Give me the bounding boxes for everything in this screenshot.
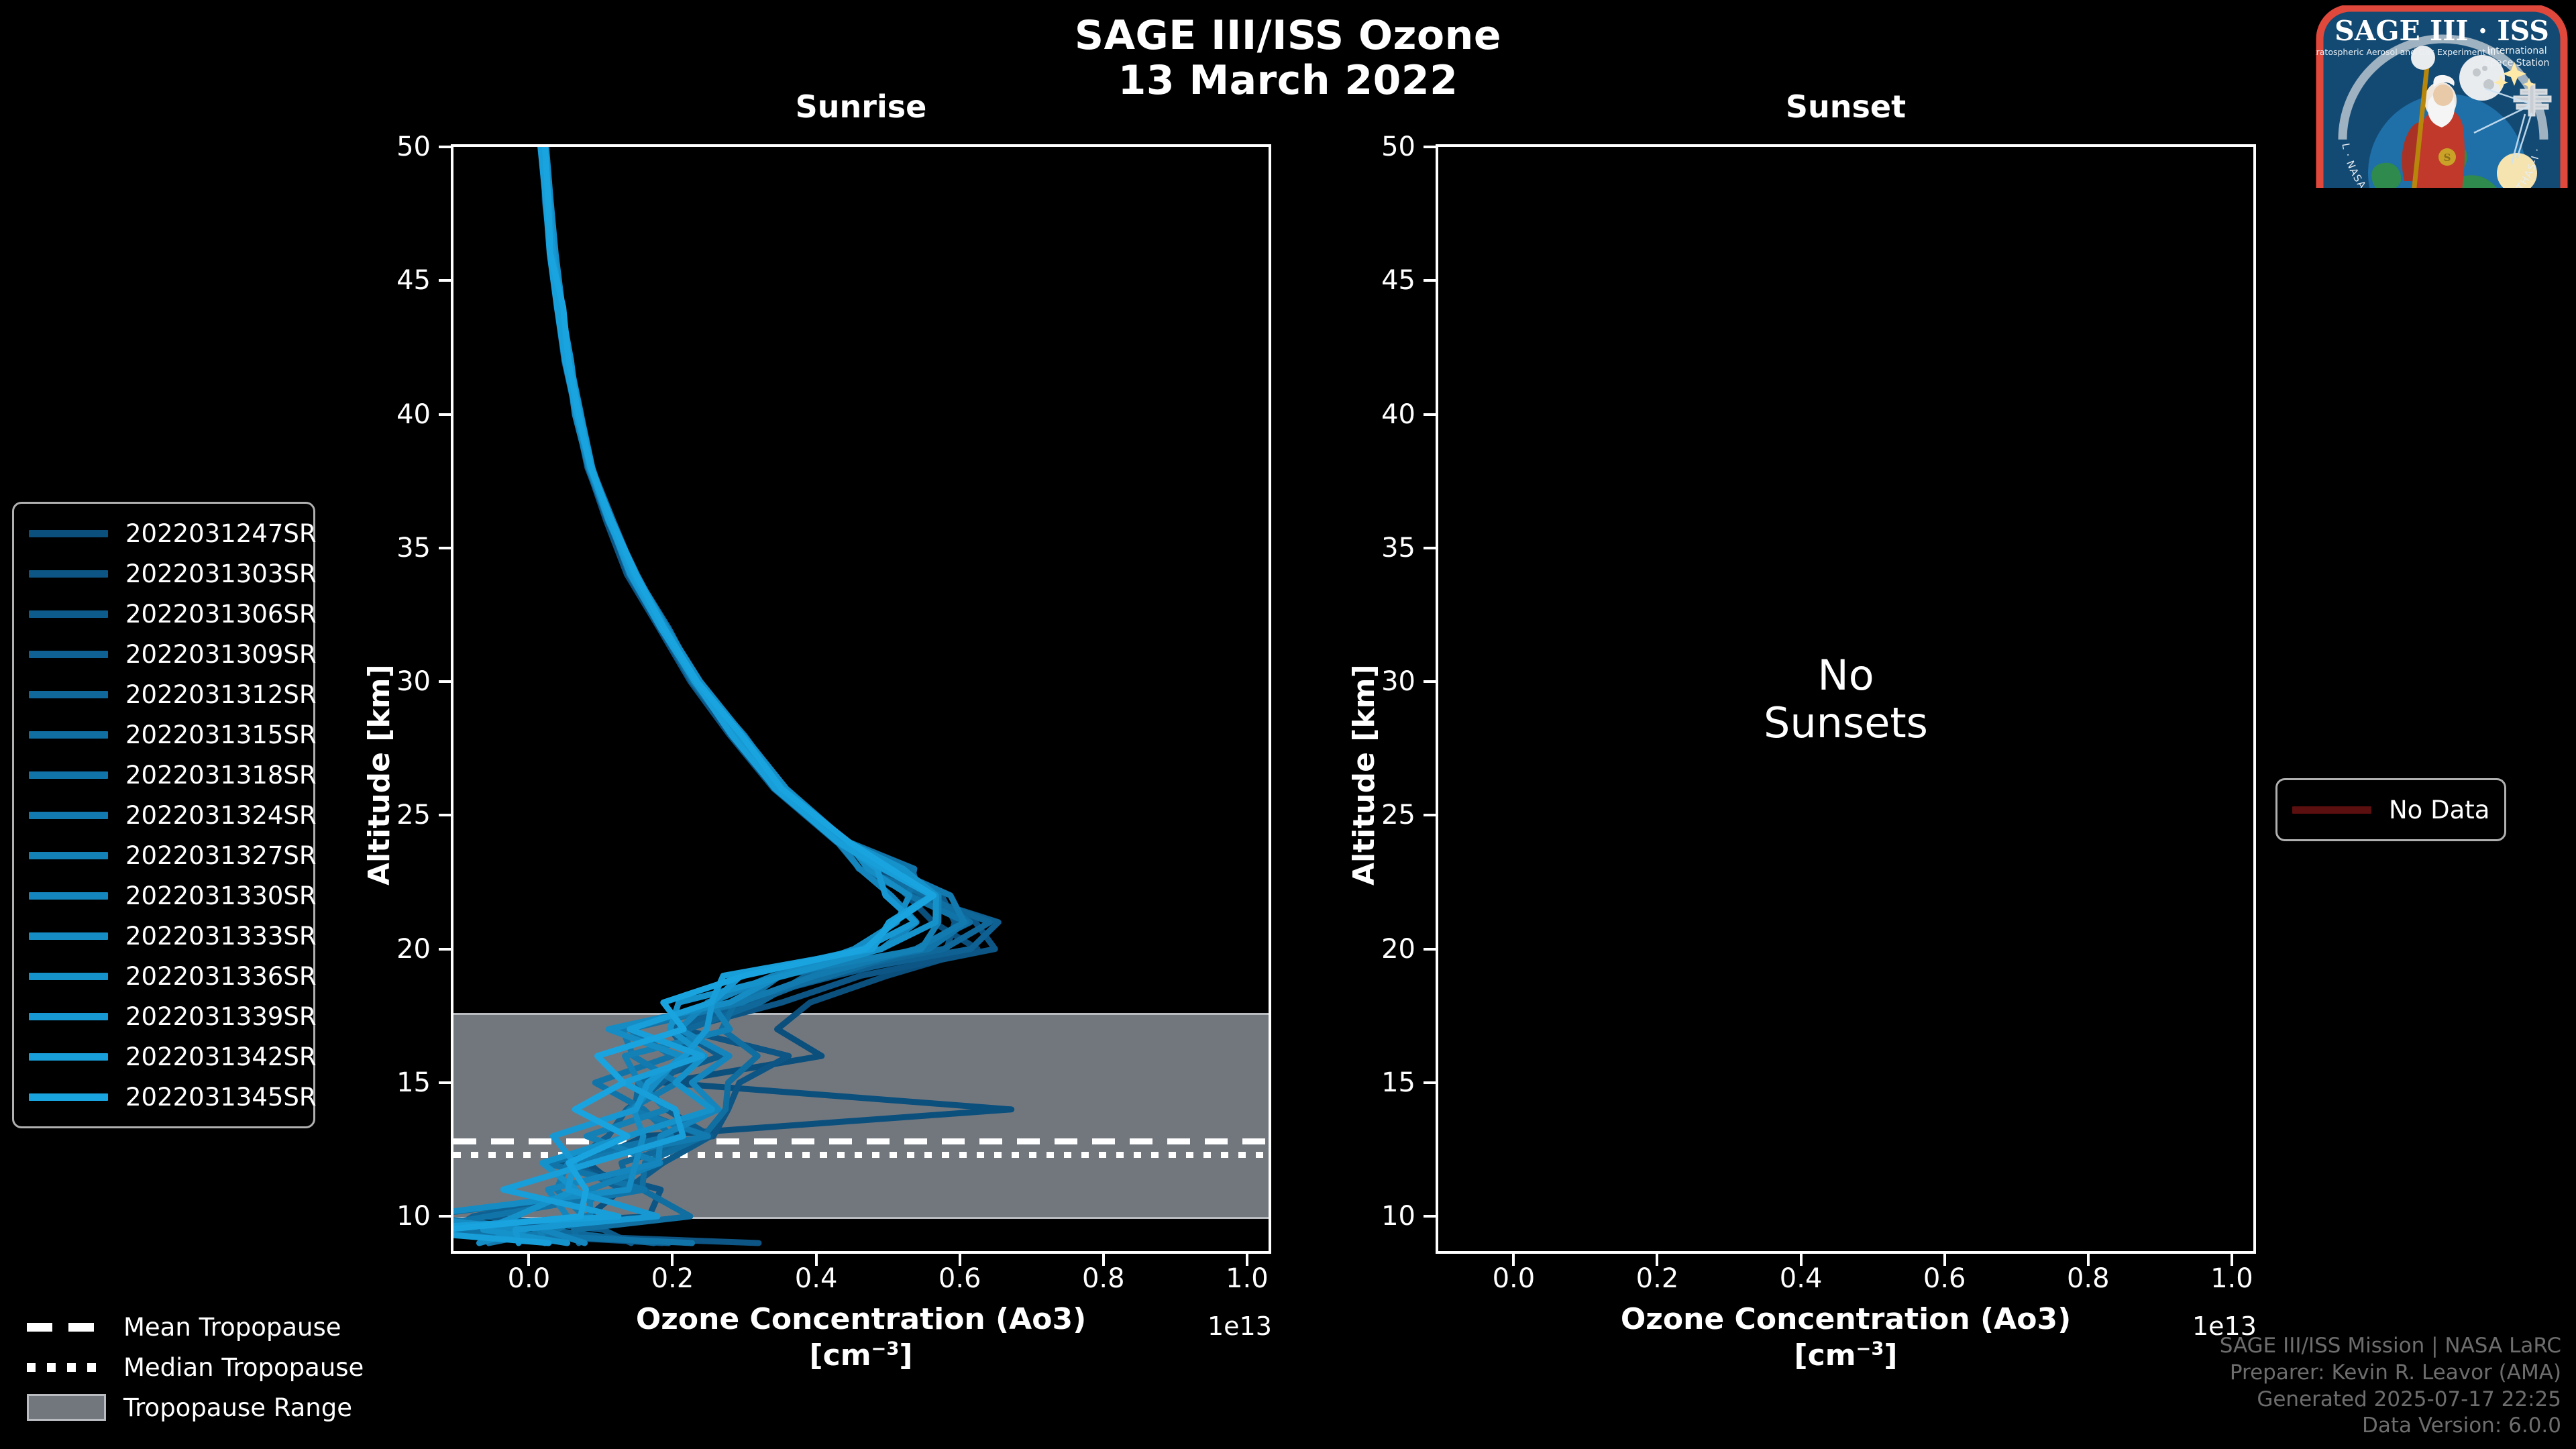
x-axis-tick-mark <box>959 1254 961 1266</box>
x-axis-tick-label: 0.0 <box>508 1263 551 1294</box>
y-axis-tick-mark <box>1424 279 1436 282</box>
x-axis-tick-label: 0.2 <box>651 1263 694 1294</box>
occultation-color-swatch <box>29 771 108 779</box>
y-axis-tick-label: 35 <box>297 533 431 563</box>
x-axis-tick-label: 0.4 <box>795 1263 838 1294</box>
panel-title-sunset: Sunset <box>1436 89 2256 125</box>
x-axis-unit-left: [cm−3] <box>451 1338 1271 1374</box>
x-axis-tick-label: 0.6 <box>938 1263 981 1294</box>
occultation-color-swatch <box>29 610 108 618</box>
occultation-label: 2022031247SR <box>125 519 317 548</box>
y-axis-tick-label: 40 <box>1281 399 1415 430</box>
occultation-label: 2022031315SR <box>125 720 317 749</box>
occultation-color-swatch <box>29 570 108 578</box>
occultation-color-swatch <box>29 973 108 980</box>
sage-iii-iss-mission-patch: S BALL · NASA LANGLEY RESEARCH CENTER · … <box>2316 5 2568 188</box>
x-axis-tick-mark <box>1512 1254 1515 1266</box>
y-axis-label-left: Altitude [km] <box>362 664 396 885</box>
legend-item-occultation[interactable]: 2022031247SR <box>29 513 299 553</box>
ozone-profile-line <box>453 147 998 1243</box>
y-axis-tick-label: 45 <box>1281 265 1415 296</box>
occultation-color-swatch <box>29 1053 108 1061</box>
x-axis-label-left: Ozone Concentration (Ao3) [cm−3] <box>451 1301 1271 1373</box>
y-axis-tick-label: 15 <box>297 1067 431 1098</box>
y-axis-tick-mark <box>439 146 451 148</box>
ozone-profile-line <box>515 147 915 1243</box>
occultation-label: 2022031336SR <box>125 962 317 991</box>
patch-title: SAGE III · ISS <box>2334 15 2549 47</box>
y-axis-tick-mark <box>1424 814 1436 816</box>
y-axis-tick-mark <box>1424 1215 1436 1218</box>
x-axis-tick-mark <box>1943 1254 1946 1266</box>
y-axis-tick-mark <box>439 1215 451 1218</box>
x-axis-tick-label: 0.8 <box>1082 1263 1125 1294</box>
occultation-color-swatch <box>29 932 108 940</box>
y-axis-tick-mark <box>439 413 451 416</box>
occultation-color-swatch <box>29 1093 108 1101</box>
y-axis-tick-mark <box>439 948 451 951</box>
legend-item-occultation[interactable]: 2022031309SR <box>29 634 299 674</box>
y-axis-tick-mark <box>439 279 451 282</box>
occultation-label: 2022031318SR <box>125 761 317 790</box>
legend-item-occultation[interactable]: 2022031318SR <box>29 755 299 795</box>
x-axis-tick-label: 0.4 <box>1780 1263 1823 1294</box>
y-axis-tick-label: 25 <box>1281 800 1415 830</box>
mission-patch-svg: S BALL · NASA LANGLEY RESEARCH CENTER · … <box>2316 5 2568 188</box>
x-axis-tick-mark <box>815 1254 818 1266</box>
occultation-label: 2022031309SR <box>125 640 317 669</box>
occultation-label: 2022031342SR <box>125 1042 317 1071</box>
y-axis-tick-mark <box>1424 413 1436 416</box>
legend-item-occultation[interactable]: 2022031342SR <box>29 1036 299 1077</box>
ozone-profile-curves <box>453 147 1269 1251</box>
patch-subtitle-right-2: Space Station <box>2485 58 2550 68</box>
y-axis-tick-label: 20 <box>1281 934 1415 965</box>
ozone-profile-line <box>482 147 955 1243</box>
occultation-color-swatch <box>29 812 108 819</box>
legend-item-occultation[interactable]: 2022031324SR <box>29 795 299 835</box>
ozone-profile-line <box>453 147 989 1243</box>
legend-item-patch[interactable]: Tropopause Range <box>27 1387 364 1428</box>
x-axis-tick-label: 0.8 <box>2067 1263 2110 1294</box>
legend-item-dotted[interactable]: Median Tropopause <box>27 1347 364 1387</box>
occultation-color-swatch <box>29 651 108 658</box>
occultation-label: 2022031312SR <box>125 680 317 709</box>
y-axis-tick-mark <box>1424 146 1436 148</box>
y-axis-tick-label: 20 <box>297 934 431 965</box>
sunrise-plot-area[interactable] <box>451 144 1271 1254</box>
legend-item-occultation[interactable]: 2022031336SR <box>29 956 299 996</box>
x-axis-tick-mark <box>1656 1254 1658 1266</box>
x-axis-tick-label: 1.0 <box>1226 1263 1269 1294</box>
occultation-label: 2022031345SR <box>125 1083 317 1112</box>
occultation-label: 2022031306SR <box>125 600 317 629</box>
y-axis-tick-label: 50 <box>297 131 431 162</box>
occultation-label: 2022031330SR <box>125 881 317 910</box>
y-axis-tick-label: 30 <box>297 666 431 697</box>
x-axis-tick-mark <box>1246 1254 1248 1266</box>
y-axis-tick-mark <box>439 547 451 549</box>
legend-item-no-data[interactable]: No Data <box>2292 790 2489 830</box>
y-axis-tick-label: 50 <box>1281 131 1415 162</box>
legend-item-occultation[interactable]: 2022031312SR <box>29 674 299 714</box>
legend-item-occultation[interactable]: 2022031330SR <box>29 875 299 916</box>
occultation-label: 2022031333SR <box>125 922 317 951</box>
tropopause-legend-label: Tropopause Range <box>123 1393 352 1422</box>
x-axis-unit-right: [cm−3] <box>1436 1338 2256 1374</box>
credits-block: SAGE III/ISS Mission | NASA LaRC Prepare… <box>2220 1333 2561 1440</box>
legend-item-occultation[interactable]: 2022031333SR <box>29 916 299 956</box>
y-axis-tick-label: 35 <box>1281 533 1415 563</box>
y-axis-tick-label: 10 <box>297 1201 431 1232</box>
y-axis-tick-mark <box>1424 680 1436 683</box>
occultation-label: 2022031339SR <box>125 1002 317 1031</box>
y-axis-tick-label: 40 <box>297 399 431 430</box>
y-axis-tick-mark <box>1424 948 1436 951</box>
legend-item-dashed[interactable]: Mean Tropopause <box>27 1307 364 1347</box>
title-line-1: SAGE III/ISS Ozone <box>1075 12 1501 59</box>
x-axis-tick-mark <box>2087 1254 2090 1266</box>
sunrise-occultation-legend[interactable]: 2022031247SR2022031303SR2022031306SR2022… <box>12 502 315 1128</box>
occultation-color-swatch <box>29 731 108 739</box>
x-axis-tick-mark <box>1800 1254 1803 1266</box>
legend-item-occultation[interactable]: 2022031303SR <box>29 553 299 594</box>
x-axis-tick-label: 0.2 <box>1636 1263 1679 1294</box>
occultation-color-swatch <box>29 691 108 698</box>
occultation-color-swatch <box>29 530 108 537</box>
legend-item-occultation[interactable]: 2022031315SR <box>29 714 299 755</box>
tropopause-legend[interactable]: Mean TropopauseMedian TropopauseTropopau… <box>27 1307 364 1428</box>
occultation-label: 2022031303SR <box>125 559 317 588</box>
x-axis-label-text-left: Ozone Concentration (Ao3) <box>636 1302 1086 1336</box>
tropopause-dotted-swatch <box>27 1363 106 1372</box>
y-axis-tick-mark <box>439 1081 451 1084</box>
legend-item-occultation[interactable]: 2022031306SR <box>29 594 299 634</box>
y-axis-tick-mark <box>1424 547 1436 549</box>
tropopause-legend-label: Mean Tropopause <box>123 1313 341 1342</box>
legend-item-occultation[interactable]: 2022031339SR <box>29 996 299 1036</box>
occultation-color-swatch <box>29 852 108 859</box>
sunset-plot-area[interactable]: No Sunsets <box>1436 144 2256 1254</box>
y-axis-tick-mark <box>439 680 451 683</box>
no-data-label: No Data <box>2389 796 2489 824</box>
x-axis-tick-mark <box>671 1254 674 1266</box>
legend-item-occultation[interactable]: 2022031345SR <box>29 1077 299 1117</box>
y-axis-tick-label: 45 <box>297 265 431 296</box>
y-axis-label-right: Altitude [km] <box>1347 664 1381 885</box>
tropopause-patch-swatch <box>27 1394 106 1421</box>
occultation-color-swatch <box>29 892 108 900</box>
x-axis-exponent-left: 1e13 <box>1207 1311 1272 1341</box>
y-axis-tick-mark <box>1424 1081 1436 1084</box>
ozone-profile-line <box>453 147 995 1243</box>
patch-subtitle-left: Stratospheric Aerosol and Gas Experiment… <box>2316 47 2495 57</box>
panel-title-sunrise: Sunrise <box>451 89 1271 125</box>
occultation-label: 2022031324SR <box>125 801 317 830</box>
occultation-label: 2022031327SR <box>125 841 317 870</box>
y-axis-tick-label: 10 <box>1281 1201 1415 1232</box>
y-axis-tick-label: 25 <box>297 800 431 830</box>
x-axis-tick-mark <box>527 1254 530 1266</box>
no-sunsets-message: No Sunsets <box>1438 147 2253 1251</box>
tropopause-legend-label: Median Tropopause <box>123 1353 364 1382</box>
x-axis-tick-label: 0.6 <box>1923 1263 1966 1294</box>
y-axis-tick-mark <box>439 814 451 816</box>
no-data-legend[interactable]: No Data <box>2275 778 2506 841</box>
patch-subtitle-right-1: International <box>2487 46 2546 56</box>
y-axis-tick-label: 30 <box>1281 666 1415 697</box>
x-axis-tick-label: 1.0 <box>2210 1263 2253 1294</box>
x-axis-tick-mark <box>2231 1254 2233 1266</box>
x-axis-tick-label: 0.0 <box>1493 1263 1536 1294</box>
y-axis-tick-label: 15 <box>1281 1067 1415 1098</box>
x-axis-label-text-right: Ozone Concentration (Ao3) <box>1621 1302 2071 1336</box>
no-data-color-swatch <box>2292 806 2371 814</box>
x-axis-label-right: Ozone Concentration (Ao3) [cm−3] <box>1436 1301 2256 1373</box>
occultation-color-swatch <box>29 1013 108 1020</box>
x-axis-tick-mark <box>1102 1254 1105 1266</box>
legend-item-occultation[interactable]: 2022031327SR <box>29 835 299 875</box>
tropopause-dashed-swatch <box>27 1323 106 1332</box>
svg-text:S: S <box>2444 152 2451 164</box>
